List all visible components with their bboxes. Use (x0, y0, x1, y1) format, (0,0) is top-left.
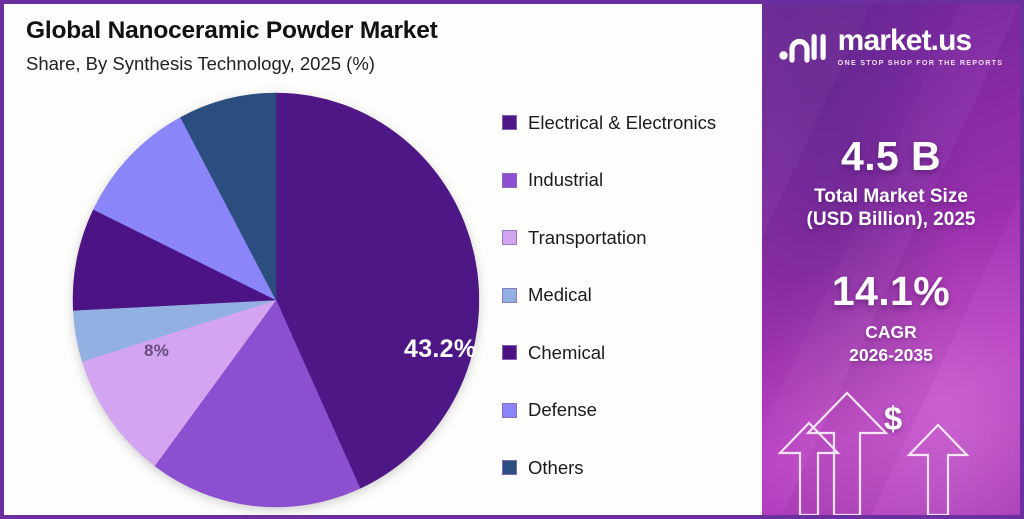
legend-item-label: Electrical & Electronics (528, 114, 716, 133)
legend-item-transportation[interactable]: Transportation (502, 209, 752, 267)
legend-item-label: Defense (528, 401, 597, 420)
stat-value: 4.5 B (762, 135, 1020, 178)
page-subtitle: Share, By Synthesis Technology, 2025 (%) (26, 53, 726, 75)
pie-slice-label-electrical: 43.2% (404, 335, 476, 364)
legend-item-chemical[interactable]: Chemical (502, 324, 752, 382)
legend-swatch-icon (502, 230, 517, 245)
brand-panel: market.us ONE STOP SHOP FOR THE REPORTS … (762, 0, 1024, 519)
stat-caption-line1: CAGR (762, 321, 1020, 344)
legend-swatch-icon (502, 288, 517, 303)
legend-item-defense[interactable]: Defense (502, 382, 752, 440)
legend-swatch-icon (502, 173, 517, 188)
brand-header: market.us ONE STOP SHOP FOR THE REPORTS (762, 26, 1020, 66)
legend-item-label: Transportation (528, 229, 647, 248)
legend-swatch-icon (502, 403, 517, 418)
legend-swatch-icon (502, 460, 517, 475)
legend-item-industrial[interactable]: Industrial (502, 152, 752, 210)
chart-panel: Global Nanoceramic Powder Market Share, … (0, 0, 762, 519)
legend-item-others[interactable]: Others (502, 439, 752, 497)
growth-arrows-icon (762, 375, 1024, 515)
brand-tagline: ONE STOP SHOP FOR THE REPORTS (838, 59, 1004, 66)
stat-market-size: 4.5 B Total Market Size (USD Billion), 2… (762, 135, 1020, 231)
stat-caption-line2: 2026-2035 (762, 344, 1020, 367)
title-block: Global Nanoceramic Powder Market Share, … (26, 16, 726, 75)
pie-chart-svg (66, 88, 486, 512)
page-title: Global Nanoceramic Powder Market (26, 16, 726, 47)
legend-item-medical[interactable]: Medical (502, 267, 752, 325)
chart-legend: Electrical & Electronics Industrial Tran… (502, 94, 752, 497)
legend-swatch-icon (502, 115, 517, 130)
legend-item-label: Medical (528, 286, 592, 305)
stat-value: 14.1% (762, 270, 1020, 313)
brand-name: market.us (838, 26, 972, 56)
market-us-logo-icon (779, 27, 829, 65)
stat-caption-line2: (USD Billion), 2025 (762, 208, 1020, 231)
brand-text: market.us ONE STOP SHOP FOR THE REPORTS (838, 26, 1004, 66)
legend-swatch-icon (502, 345, 517, 360)
legend-item-label: Others (528, 459, 584, 478)
stat-caption-line1: Total Market Size (762, 185, 1020, 208)
legend-item-label: Industrial (528, 171, 603, 190)
infographic-canvas: Global Nanoceramic Powder Market Share, … (0, 0, 1024, 519)
pie-slice-label-chemical: 8% (144, 341, 169, 361)
stat-cagr: 14.1% CAGR 2026-2035 (762, 270, 1020, 367)
pie-chart: 43.2% 8% (66, 88, 486, 512)
legend-item-electrical-electronics[interactable]: Electrical & Electronics (502, 94, 752, 152)
legend-item-label: Chemical (528, 344, 605, 363)
